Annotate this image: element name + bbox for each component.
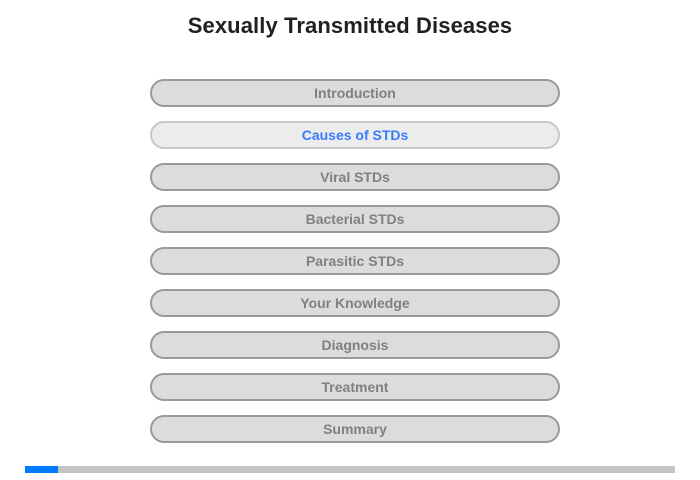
progress-bar[interactable] [25,466,675,473]
menu-item-label: Your Knowledge [300,296,409,310]
menu-item-summary[interactable]: Summary [150,415,560,443]
menu-item-label: Viral STDs [320,170,390,184]
menu-item-label: Introduction [314,86,396,100]
progress-bar-fill [25,466,58,473]
menu-item-viral-stds[interactable]: Viral STDs [150,163,560,191]
menu-item-causes-of-stds[interactable]: Causes of STDs [150,121,560,149]
page-title: Sexually Transmitted Diseases [0,13,700,39]
menu-item-bacterial-stds[interactable]: Bacterial STDs [150,205,560,233]
menu-item-label: Summary [323,422,387,436]
menu-item-introduction[interactable]: Introduction [150,79,560,107]
menu-item-label: Causes of STDs [302,128,409,142]
menu-item-label: Treatment [322,380,389,394]
menu-item-your-knowledge[interactable]: Your Knowledge [150,289,560,317]
menu-item-parasitic-stds[interactable]: Parasitic STDs [150,247,560,275]
menu-item-label: Bacterial STDs [306,212,405,226]
menu-item-label: Parasitic STDs [306,254,404,268]
menu-item-treatment[interactable]: Treatment [150,373,560,401]
menu-item-diagnosis[interactable]: Diagnosis [150,331,560,359]
navigation-menu: IntroductionCauses of STDsViral STDsBact… [150,79,560,443]
menu-item-label: Diagnosis [322,338,389,352]
